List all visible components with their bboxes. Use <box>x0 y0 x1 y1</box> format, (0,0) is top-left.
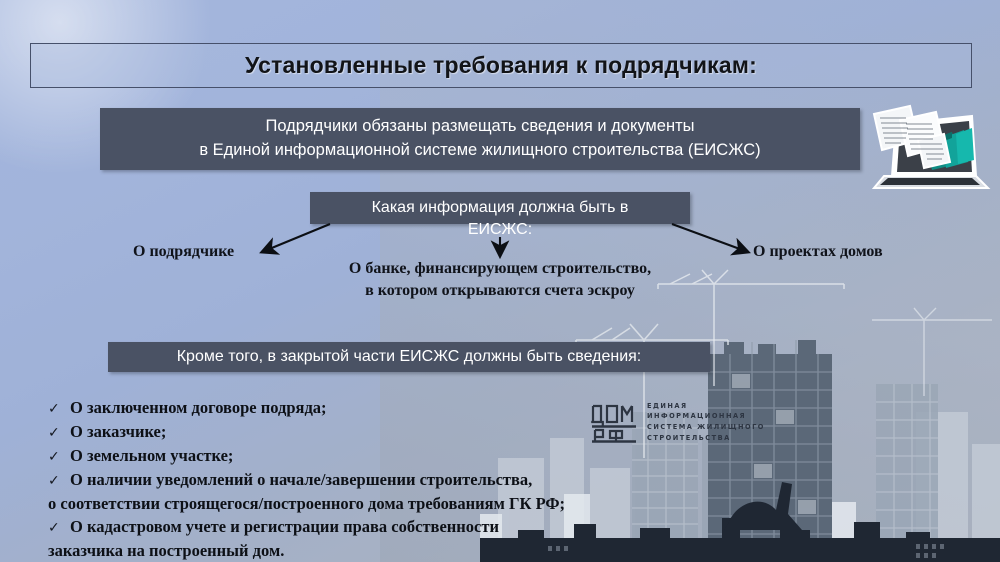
check-icon: ✓ <box>48 400 70 420</box>
logo-text-line1: Единая <box>647 401 765 412</box>
branch-label-projects: О проектах домов <box>753 243 883 261</box>
list-item-text: О кадастровом учете и регистрации права … <box>70 517 499 536</box>
branch-label-bank: О банке, финансирующем строительство, в … <box>300 258 700 301</box>
main-statement-line1: Подрядчики обязаны размещать сведения и … <box>266 117 695 135</box>
list-item-continuation: заказчика на построенный дом. <box>48 539 658 562</box>
laptop-with-documents-icon <box>866 92 994 196</box>
list-item: ✓О заключенном договоре подряда; <box>48 396 658 420</box>
list-item-continuation: о соответствии строящегося/построенного … <box>48 492 658 515</box>
dom-rf-logo: Единая информационная система жилищного … <box>590 400 765 444</box>
logo-text-line3: система жилищного <box>647 422 765 433</box>
main-statement-line2: в Единой информационной системе жилищног… <box>199 139 760 163</box>
main-statement-banner: Подрядчики обязаны размещать сведения и … <box>100 108 860 170</box>
center-question-banner: Какая информация должна быть в ЕИСЖС: <box>310 192 690 224</box>
branch-label-bank-line2: в котором открываются счета эскроу <box>365 282 635 299</box>
list-item-text: О заключенном договоре подряда; <box>70 398 327 417</box>
page-title: Установленные требования к подрядчикам: <box>245 52 757 79</box>
check-icon: ✓ <box>48 519 70 539</box>
requirements-list: ✓О заключенном договоре подряда; ✓О зака… <box>48 396 658 562</box>
branch-label-contractor: О подрядчике <box>133 243 234 261</box>
closed-part-banner: Кроме того, в закрытой части ЕИСЖС должн… <box>108 342 710 372</box>
list-item-text: О земельном участке; <box>70 446 233 465</box>
check-icon: ✓ <box>48 472 70 492</box>
list-item: ✓О наличии уведомлений о начале/завершен… <box>48 468 658 515</box>
center-question-line1: Какая информация должна быть в <box>372 199 629 216</box>
list-item-text: О наличии уведомлений о начале/завершени… <box>70 470 532 489</box>
list-item-text: О заказчике; <box>70 422 166 441</box>
list-item: ✓О земельном участке; <box>48 444 658 468</box>
logo-text-line4: строительства <box>647 433 765 444</box>
page-title-box: Установленные требования к подрядчикам: <box>30 43 972 88</box>
dom-rf-logo-text: Единая информационная система жилищного … <box>647 401 765 444</box>
dom-rf-logo-mark <box>590 400 638 444</box>
list-item: ✓О заказчике; <box>48 420 658 444</box>
branch-label-bank-line1: О банке, финансирующем строительство, <box>349 260 651 277</box>
list-item: ✓О кадастровом учете и регистрации права… <box>48 515 658 562</box>
center-question-line2: ЕИСЖС: <box>310 219 690 241</box>
check-icon: ✓ <box>48 448 70 468</box>
check-icon: ✓ <box>48 424 70 444</box>
logo-text-line2: информационная <box>647 411 765 422</box>
closed-part-banner-text: Кроме того, в закрытой части ЕИСЖС должн… <box>177 348 642 366</box>
